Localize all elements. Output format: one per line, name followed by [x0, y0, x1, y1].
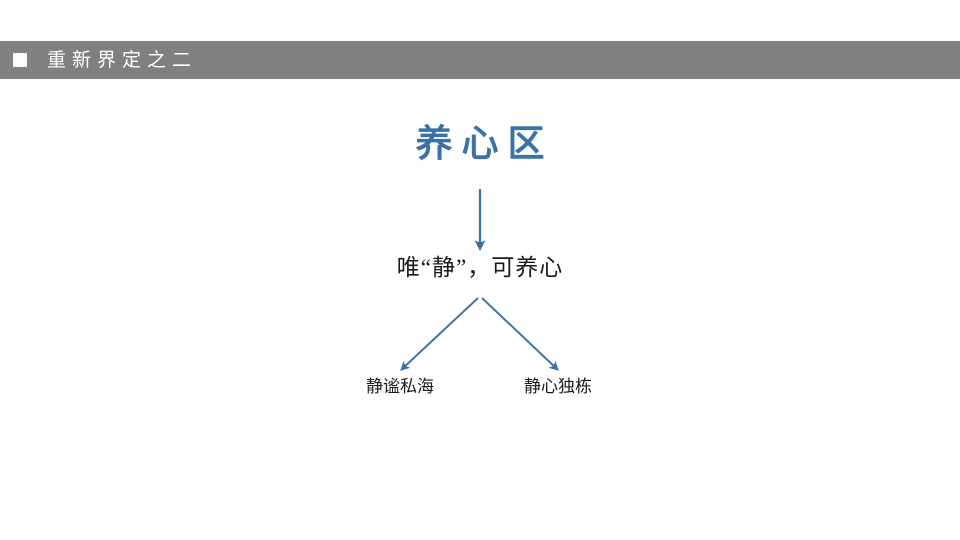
diagram-node-child-left: 静谧私海	[330, 378, 470, 395]
diagram-node-middle: 唯“静”，可养心	[0, 256, 960, 279]
diagram-node-child-right: 静心独栋	[488, 378, 628, 395]
arrow-middle-to-left-child	[402, 298, 478, 369]
slide-header-bar: 重新界定之二	[0, 41, 960, 79]
slide-canvas: 重新界定之二 养心区 唯“静”，可养心 静谧私海 静心独栋	[0, 0, 960, 540]
tree-diagram: 养心区 唯“静”，可养心 静谧私海 静心独栋	[0, 79, 960, 540]
square-bullet-icon	[13, 53, 27, 67]
slide-header-title: 重新界定之二	[47, 51, 197, 70]
diagram-node-root: 养心区	[0, 126, 960, 163]
arrow-middle-to-right-child	[482, 298, 557, 369]
